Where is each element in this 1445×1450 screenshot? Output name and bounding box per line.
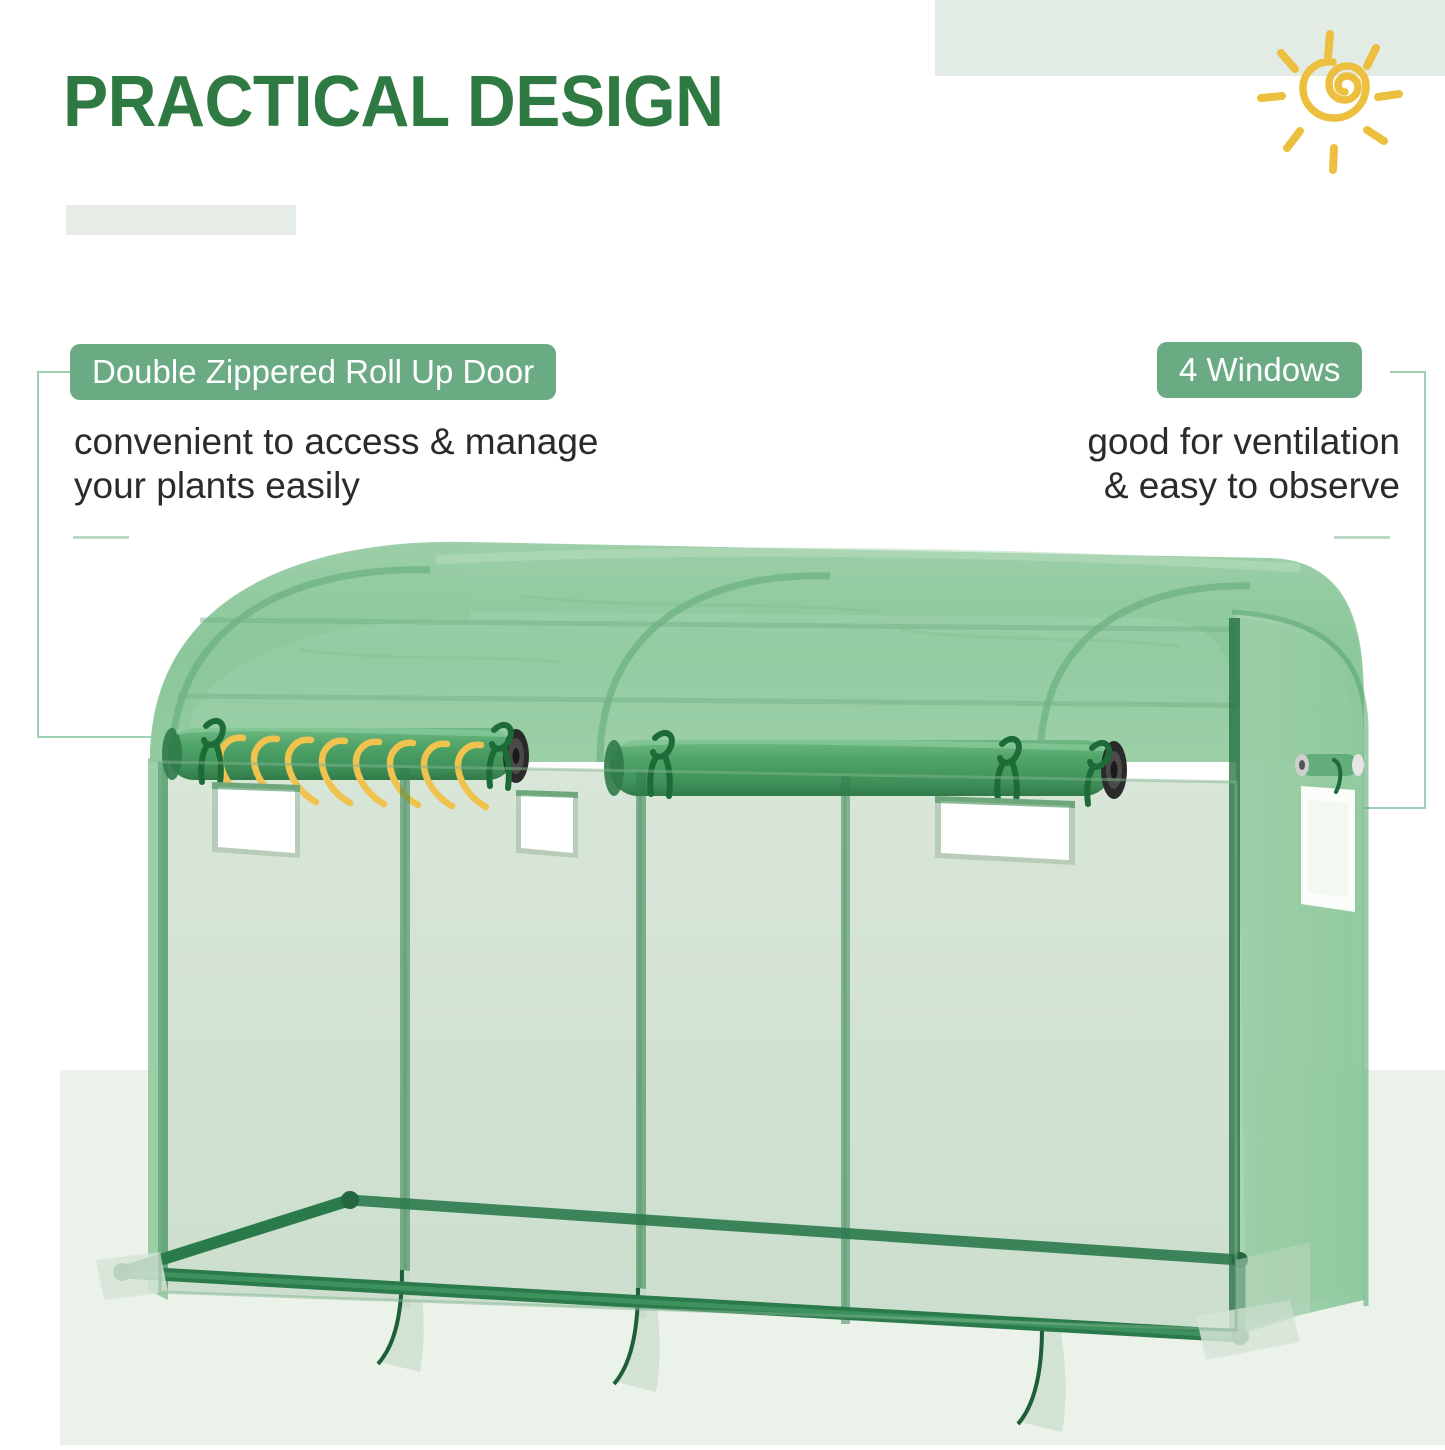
callout-body-windows: good for ventilation & easy to observe — [940, 420, 1400, 507]
callout-tag-windows: 4 Windows — [1157, 342, 1362, 398]
page-title: PRACTICAL DESIGN — [63, 66, 724, 138]
window-front-2 — [516, 790, 578, 858]
infographic-canvas: PRACTICAL DESIGN Double Zippered Roll Up… — [0, 0, 1445, 1445]
right-connector-top — [1390, 371, 1426, 373]
callout-tag-door: Double Zippered Roll Up Door — [70, 344, 556, 400]
left-connector-top — [37, 371, 72, 373]
greenhouse-product-image — [0, 500, 1445, 1445]
title-underline-bar — [66, 205, 296, 235]
callout-body-door: convenient to access & manage your plant… — [74, 420, 734, 507]
rolled-door-right — [604, 740, 1127, 799]
callout-tag-windows-label: 4 Windows — [1179, 351, 1340, 389]
window-front-3 — [935, 796, 1075, 865]
window-front-1 — [212, 782, 300, 858]
sun-icon — [1245, 20, 1415, 190]
callout-tag-door-label: Double Zippered Roll Up Door — [92, 353, 534, 391]
